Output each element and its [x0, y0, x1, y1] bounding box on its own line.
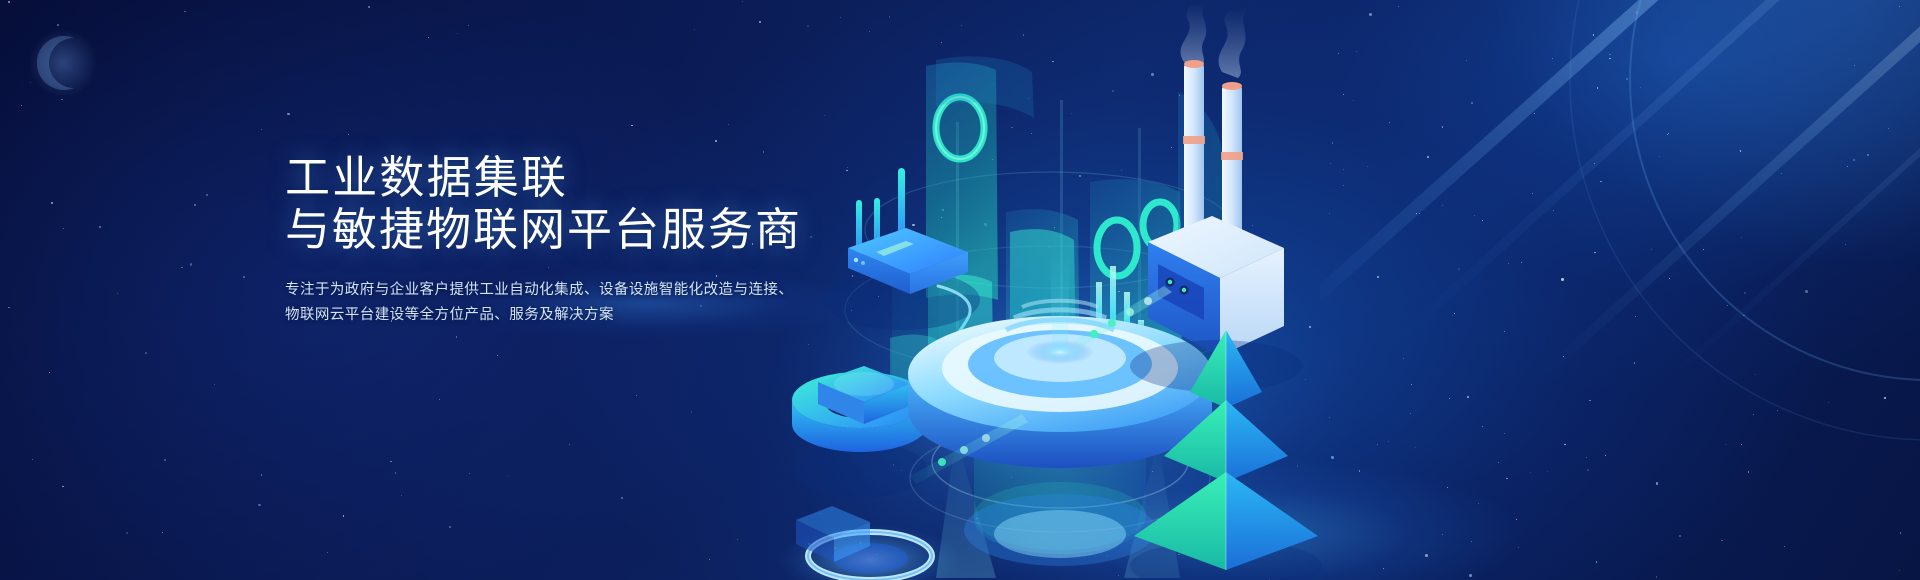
star: [508, 475, 509, 476]
star: [691, 411, 692, 412]
star: [469, 473, 470, 474]
hero-text-block: 工业数据集联 与敏捷物联网平台服务商 专注于为政府与企业客户提供工业自动化集成、…: [285, 152, 905, 328]
star: [61, 99, 62, 100]
star: [164, 459, 166, 461]
star: [8, 1, 10, 3]
star: [709, 559, 710, 560]
star: [21, 105, 22, 106]
star: [117, 293, 118, 294]
star: [62, 486, 63, 487]
page-title-line1: 工业数据集联: [285, 152, 905, 204]
star: [390, 461, 391, 462]
star: [497, 355, 498, 356]
star: [261, 474, 262, 475]
hero-banner: 工业数据集联 与敏捷物联网平台服务商 专注于为政府与企业客户提供工业自动化集成、…: [0, 0, 1920, 580]
page-subtitle-line1: 专注于为政府与企业客户提供工业自动化集成、设备设施智能化改造与连接、: [285, 278, 905, 303]
star: [194, 204, 196, 206]
star: [181, 267, 182, 268]
star: [51, 202, 53, 204]
star: [694, 29, 695, 30]
star: [261, 129, 263, 131]
star: [569, 444, 570, 445]
star: [63, 228, 64, 229]
star: [126, 532, 128, 534]
star: [401, 495, 402, 496]
star: [343, 515, 345, 517]
star: [258, 504, 261, 507]
crescent-moon-icon: [28, 28, 98, 98]
star: [243, 276, 245, 278]
star: [449, 526, 452, 529]
star: [631, 125, 633, 127]
star: [428, 37, 429, 38]
star: [287, 113, 290, 116]
page-subtitle-line2: 物联网云平台建设等全方位产品、服务及解决方案: [285, 303, 905, 328]
star: [8, 307, 10, 309]
star: [368, 6, 370, 8]
star: [468, 25, 469, 26]
star: [715, 140, 717, 142]
star: [32, 459, 33, 460]
star: [456, 336, 457, 337]
star: [162, 532, 163, 533]
star: [206, 194, 208, 196]
star: [395, 472, 396, 473]
star: [457, 33, 458, 34]
isometric-illustration: [760, 0, 1920, 580]
star: [348, 134, 349, 135]
star: [742, 1, 743, 2]
star: [728, 124, 729, 125]
star: [49, 372, 50, 373]
star: [327, 552, 328, 553]
star: [57, 24, 59, 26]
star: [184, 11, 185, 12]
star: [145, 352, 147, 354]
star: [439, 399, 440, 400]
star: [621, 497, 623, 499]
star: [190, 263, 193, 266]
star: [636, 395, 637, 396]
page-subtitle: 专注于为政府与企业客户提供工业自动化集成、设备设施智能化改造与连接、 物联网云平…: [285, 278, 905, 328]
page-title-line2: 与敏捷物联网平台服务商: [285, 204, 905, 256]
star: [737, 539, 738, 540]
star: [99, 226, 101, 228]
star: [214, 384, 215, 385]
